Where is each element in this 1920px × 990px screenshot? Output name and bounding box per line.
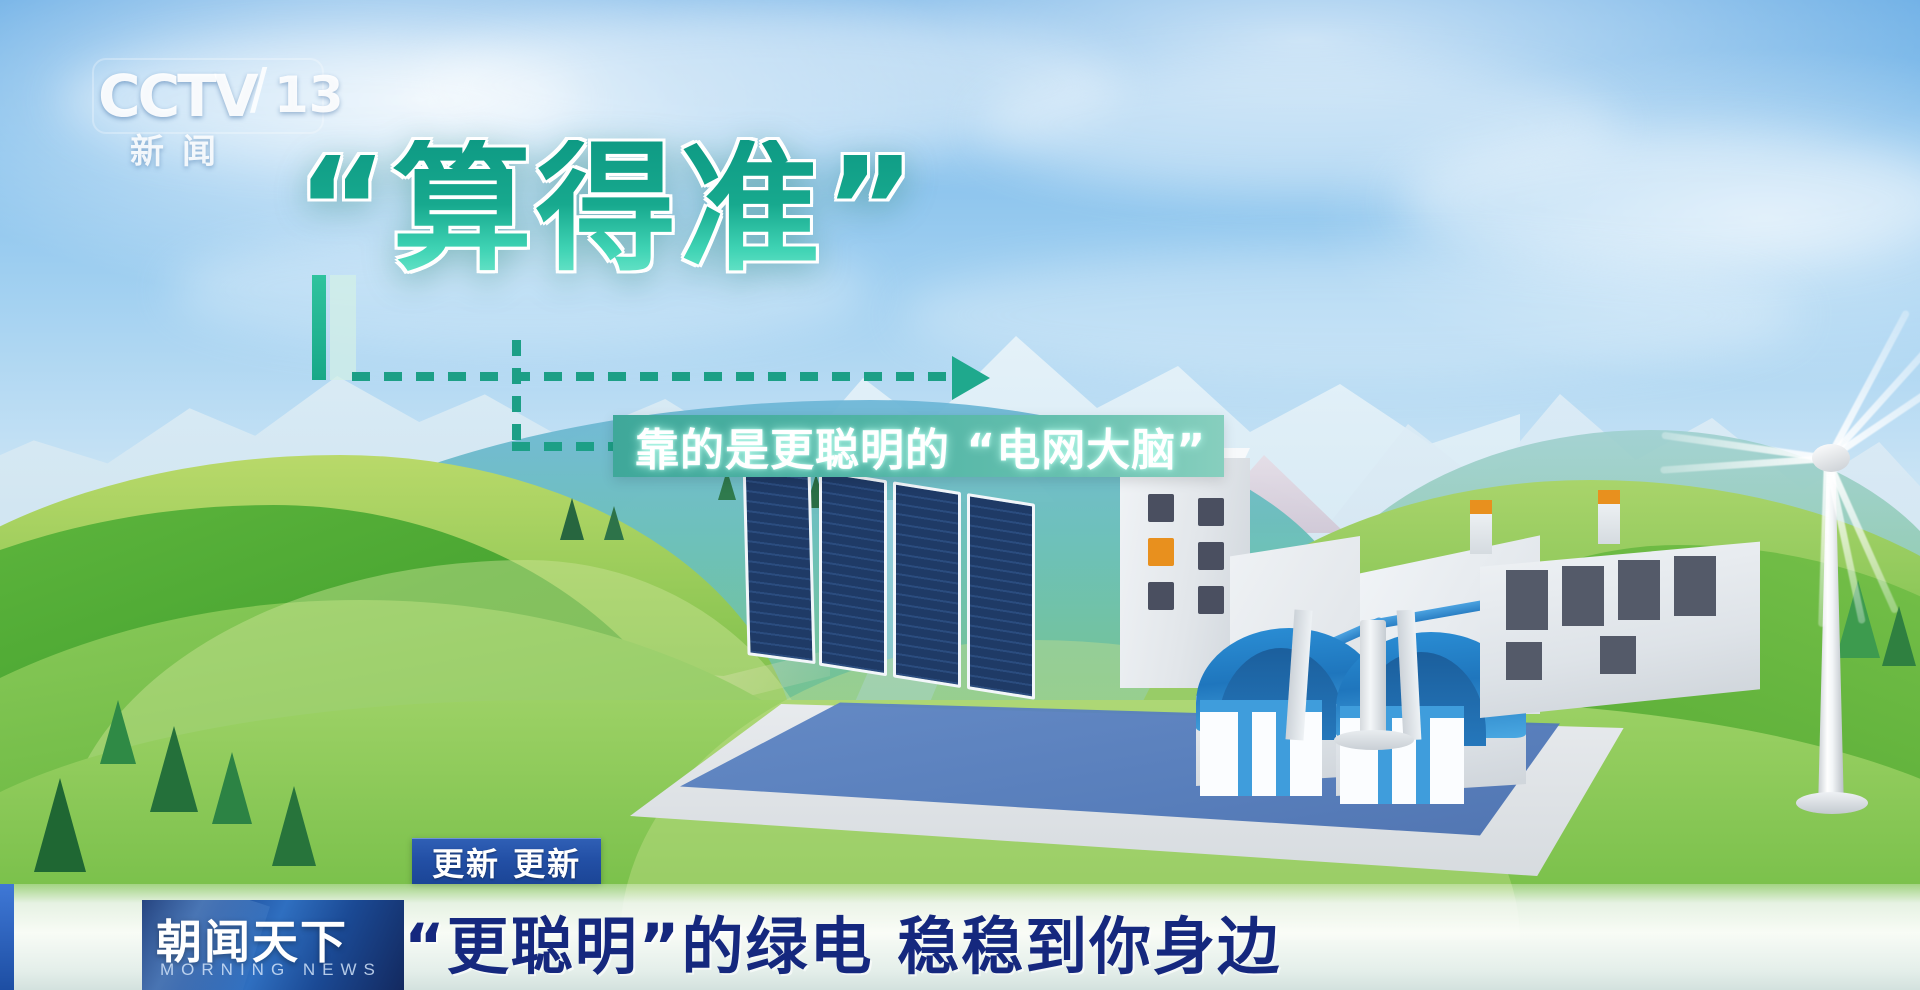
lower-third-accent [0,884,14,990]
turbine-base [1796,792,1868,814]
solar-panel-icon [745,458,1075,760]
wind-turbine-icon [1700,400,1920,820]
window-icon [1148,494,1174,522]
chimney-cap-icon [1598,490,1620,504]
window-icon [1148,582,1174,610]
window-icon [1506,570,1548,630]
window-icon [1198,586,1224,614]
status-badge: 更新 更新 [412,838,601,884]
turbine-hub [1812,444,1850,472]
solar-mast [1360,620,1386,738]
tree-icon [100,700,136,764]
program-logo: 朝闻天下 MORNING NEWS [142,900,404,990]
window-icon [1600,636,1636,674]
window-icon [1506,642,1542,680]
tree-icon [34,778,86,872]
power-plant-illustration [600,500,1780,900]
cctv-wordmark: CCTV [98,62,256,130]
headline-sub-banner-text: 靠的是更聪明的 “电网大脑” [635,414,1206,478]
logo-slash-icon: / [250,56,267,127]
glass-mullion [1238,700,1252,796]
solar-base [1334,730,1414,750]
dashed-connector-vertical [512,340,521,450]
window-icon [1198,498,1224,526]
window-icon [1148,538,1174,566]
tree-icon [272,786,316,866]
window-icon [1198,542,1224,570]
dashed-connector-line [352,372,962,381]
tree-icon [150,726,198,812]
broadcast-screen: CCTV / 13 新闻 “算得准” 靠的是更聪明的 “电网大脑” 更新 更新 … [0,0,1920,990]
status-badge-text: 更新 更新 [432,839,581,885]
channel-logo: CCTV / 13 新闻 [98,62,318,162]
solar-cell [893,481,961,688]
channel-number: 13 [274,66,344,124]
program-name-en: MORNING NEWS [160,960,382,980]
headline-sub-banner: 靠的是更聪明的 “电网大脑” [613,415,1224,477]
page-title: “算得准” [296,140,920,280]
arrow-right-icon [952,356,990,400]
lower-third-headline: “更聪明”的绿电 稳稳到你身边 [404,896,1281,986]
window-icon [1562,566,1604,626]
tree-icon [212,752,252,824]
window-icon [1618,560,1660,620]
chimney-cap-icon [1470,500,1492,514]
solar-cell [742,458,815,664]
solar-cell [967,493,1035,700]
tree-icon [560,498,584,540]
channel-sub-label: 新闻 [130,124,234,173]
solar-cell [819,470,887,677]
